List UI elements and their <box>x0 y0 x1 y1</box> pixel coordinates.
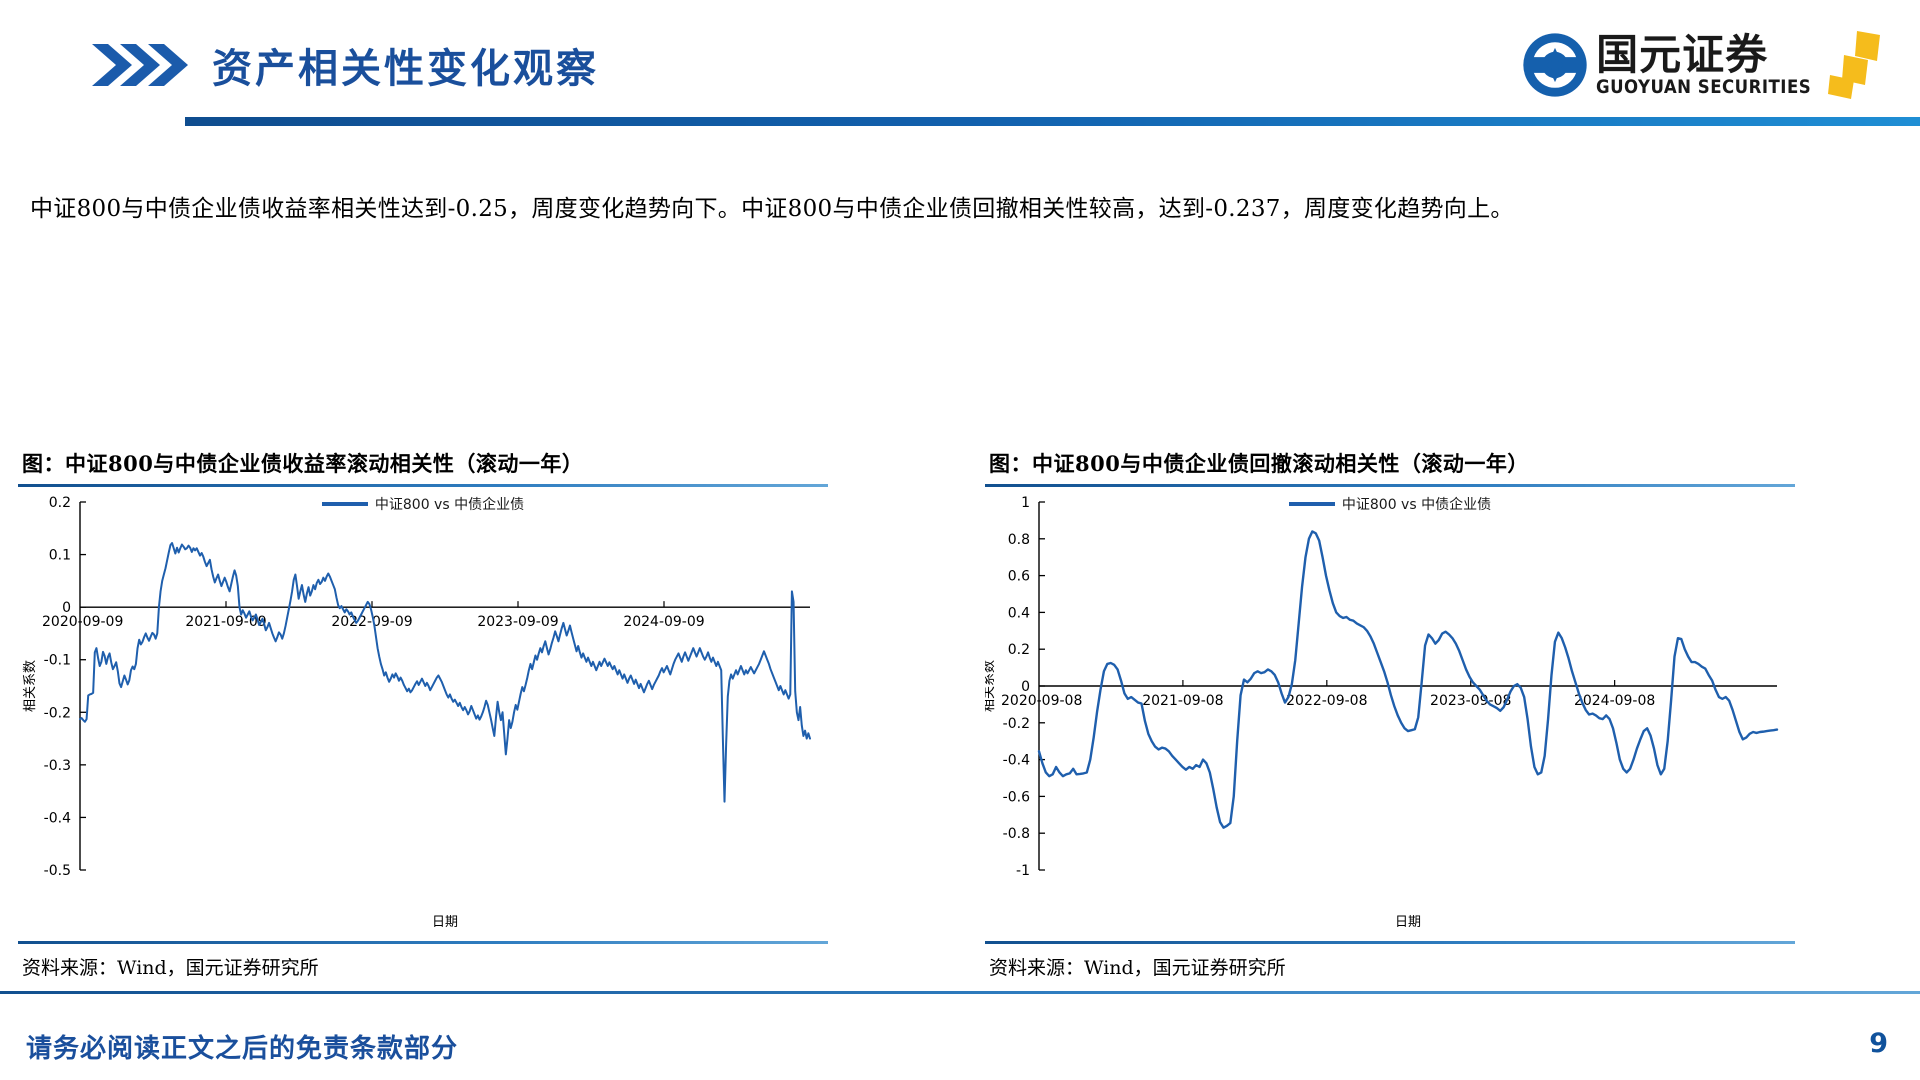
logo-name-cn: 国元证券 <box>1596 33 1818 77</box>
y-tick-label: 0.1 <box>49 548 71 564</box>
logo-text: 国元证券 GUOYUAN SECURITIES <box>1596 33 1818 98</box>
y-tick-label: -0.2 <box>1003 716 1030 732</box>
chart-legend: 中证800 vs 中债企业债 <box>18 494 828 514</box>
panel-source-rule <box>18 941 828 944</box>
x-axis-title: 日期 <box>1395 915 1421 930</box>
y-tick-label: 0.8 <box>1008 532 1030 548</box>
legend-swatch <box>322 502 368 506</box>
panel-title: 图：中证800与中债企业债回撤滚动相关性（滚动一年） <box>985 448 1795 478</box>
panel-source: 资料来源：Wind，国元证券研究所 <box>22 953 319 980</box>
logo-name-en: GUOYUAN SECURITIES <box>1596 77 1811 98</box>
legend-label: 中证800 vs 中债企业债 <box>375 494 524 514</box>
y-tick-label: -0.6 <box>1003 789 1030 805</box>
company-logo: 国元证券 GUOYUAN SECURITIES <box>1522 25 1884 105</box>
x-tick-label: 2021-09-08 <box>1142 693 1223 709</box>
footer-rule <box>0 991 1920 994</box>
chart-yield-correlation: 中证800 vs 中债企业债 0.20.10-0.1-0.2-0.3-0.4-0… <box>18 480 828 940</box>
x-tick-label: 2022-09-08 <box>1286 693 1367 709</box>
series-line <box>1039 531 1777 827</box>
y-axis-title: 相关系数 <box>985 660 997 712</box>
y-axis-title: 相关系数 <box>23 660 38 712</box>
gold-flags-icon <box>1824 29 1884 101</box>
x-tick-label: 2020-09-08 <box>1001 693 1082 709</box>
page-title: 资产相关性变化观察 <box>212 36 599 94</box>
y-tick-label: 0.4 <box>1008 605 1030 621</box>
y-tick-label: -0.8 <box>1003 826 1030 842</box>
y-tick-label: 0.6 <box>1008 569 1030 585</box>
page-number: 9 <box>1869 1028 1888 1059</box>
y-tick-label: -0.5 <box>44 863 71 879</box>
guoyuan-circle-mark-icon <box>1522 32 1588 98</box>
y-tick-label: -0.4 <box>1003 753 1030 769</box>
legend-swatch <box>1289 502 1335 506</box>
triple-chevron-right-icon <box>90 42 200 88</box>
chart-svg: 10.80.60.40.20-0.2-0.4-0.6-0.8-12020-09-… <box>985 480 1795 940</box>
chart-panel-drawdown-correlation: 图：中证800与中债企业债回撤滚动相关性（滚动一年） 中证800 vs 中债企业… <box>985 448 1795 988</box>
x-tick-label: 2020-09-09 <box>42 614 123 630</box>
panel-source-rule <box>985 941 1795 944</box>
series-line <box>80 543 810 802</box>
legend-label: 中证800 vs 中债企业债 <box>1342 494 1491 514</box>
footer-disclaimer: 请务必阅读正文之后的免责条款部分 <box>26 1028 458 1065</box>
x-tick-label: 2023-09-08 <box>1430 693 1511 709</box>
panel-source: 资料来源：Wind，国元证券研究所 <box>989 953 1286 980</box>
y-tick-label: -0.4 <box>44 810 71 826</box>
y-tick-label: -1 <box>1016 863 1030 879</box>
chart-panel-yield-correlation: 图：中证800与中债企业债收益率滚动相关性（滚动一年） 中证800 vs 中债企… <box>18 448 828 988</box>
chart-legend: 中证800 vs 中债企业债 <box>985 494 1795 514</box>
x-tick-label: 2023-09-09 <box>477 614 558 630</box>
x-tick-label: 2024-09-09 <box>623 614 704 630</box>
y-tick-label: 0.2 <box>1008 642 1030 658</box>
y-tick-label: -0.1 <box>44 653 71 669</box>
x-axis-title: 日期 <box>432 915 458 930</box>
y-tick-label: -0.3 <box>44 758 71 774</box>
header-rule <box>185 117 1920 126</box>
x-tick-label: 2024-09-08 <box>1574 693 1655 709</box>
panel-title: 图：中证800与中债企业债收益率滚动相关性（滚动一年） <box>18 448 828 478</box>
page-header: 资产相关性变化观察 国元证券 GUOYUAN SECURITIES <box>0 0 1920 132</box>
summary-paragraph: 中证800与中债企业债收益率相关性达到-0.25，周度变化趋势向下。中证800与… <box>30 192 1890 227</box>
y-tick-label: -0.2 <box>44 705 71 721</box>
chart-drawdown-correlation: 中证800 vs 中债企业债 10.80.60.40.20-0.2-0.4-0.… <box>985 480 1795 940</box>
chart-svg: 0.20.10-0.1-0.2-0.3-0.4-0.52020-09-09202… <box>18 480 828 940</box>
